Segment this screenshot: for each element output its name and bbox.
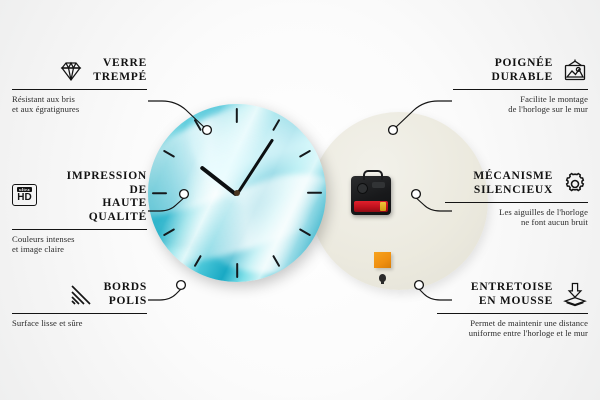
clock-tick <box>152 192 167 194</box>
callout-desc: Couleurs intenses et image claire <box>12 234 147 255</box>
callout-desc-line2: et aux égratignures <box>12 104 147 114</box>
callout-head: POIGNÉE DURABLE <box>453 57 588 84</box>
callout-title-line1: VERRE <box>93 57 147 71</box>
callout-title: IMPRESSION DE HAUTE QUALITÉ <box>47 170 147 224</box>
callout-head: ENTRETOISE EN MOUSSE <box>437 281 588 308</box>
callout-entretoise-en-mousse[interactable]: ENTRETOISE EN MOUSSE Permet de maintenir… <box>437 281 588 338</box>
callout-title-line1: IMPRESSION DE <box>47 170 147 197</box>
callout-title: MÉCANISME SILENCIEUX <box>445 170 553 197</box>
hd-badge-main-label: HD <box>17 193 31 203</box>
callout-title-line2: POLIS <box>104 295 147 309</box>
polished-edge-icon <box>69 282 95 308</box>
callout-desc: Résistant aux bris et aux égratignures <box>12 94 147 115</box>
callout-title: BORDS POLIS <box>104 281 147 308</box>
picture-frame-hanger-icon <box>562 58 588 84</box>
callout-rule <box>445 202 588 203</box>
foam-spacer-pad <box>374 252 391 268</box>
callout-title: ENTRETOISE EN MOUSSE <box>437 281 553 308</box>
callout-desc-line2: uniforme entre l'horloge et le mur <box>437 328 588 338</box>
callout-title: VERRE TREMPÉ <box>93 57 147 84</box>
callout-desc: Facilite le montage de l'horloge sur le … <box>453 94 588 115</box>
callout-rule <box>453 89 588 90</box>
callout-mecanisme-silencieux[interactable]: MÉCANISME SILENCIEUX Les aiguilles de l'… <box>445 170 588 227</box>
callout-title-line2: SILENCIEUX <box>445 184 553 198</box>
callout-verre-trempe[interactable]: VERRE TREMPÉ Résistant aux bris et aux é… <box>12 57 147 114</box>
callout-head: MÉCANISME SILENCIEUX <box>445 170 588 197</box>
callout-rule <box>437 313 588 314</box>
callout-head: VERRE TREMPÉ <box>12 57 147 84</box>
callout-rule <box>12 89 147 90</box>
infographic-stage: VERRE TREMPÉ Résistant aux bris et aux é… <box>0 0 600 400</box>
callout-poignee-durable[interactable]: POIGNÉE DURABLE Facilite le montage de l… <box>453 57 588 114</box>
callout-rule <box>12 313 147 314</box>
foam-spacer-icon <box>562 282 588 308</box>
callout-desc-line2: ne font aucun bruit <box>445 217 588 227</box>
callout-desc-line1: Permet de maintenir une distance <box>437 318 588 328</box>
callout-title-line2: EN MOUSSE <box>437 295 553 309</box>
clock-face <box>148 104 326 282</box>
callout-desc-line1: Résistant aux bris <box>12 94 147 104</box>
callout-head: BORDS POLIS <box>12 281 147 308</box>
callout-title-line2: DURABLE <box>453 71 553 85</box>
callout-impression-haute-qualite[interactable]: ultra HD IMPRESSION DE HAUTE QUALITÉ Cou… <box>12 170 147 254</box>
callout-desc: Permet de maintenir une distance uniform… <box>437 318 588 339</box>
clock-movement-mechanism <box>351 176 391 215</box>
callout-desc-line2: et image claire <box>12 244 147 254</box>
callout-desc-line1: Surface lisse et sûre <box>12 318 147 328</box>
callout-title-line1: ENTRETOISE <box>437 281 553 295</box>
wall-hook <box>379 274 386 282</box>
clock-hand-cap <box>234 190 240 196</box>
callout-head: ultra HD IMPRESSION DE HAUTE QUALITÉ <box>12 170 147 224</box>
callout-title: POIGNÉE DURABLE <box>453 57 553 84</box>
ultra-hd-badge-icon: ultra HD <box>12 184 38 210</box>
battery <box>354 201 388 212</box>
gear-icon <box>562 171 588 197</box>
callout-desc-line2: de l'horloge sur le mur <box>453 104 588 114</box>
callout-title-line2: TREMPÉ <box>93 71 147 85</box>
callout-desc: Surface lisse et sûre <box>12 318 147 328</box>
movement-dial-secondary <box>372 182 385 188</box>
movement-dial <box>357 183 368 194</box>
callout-title-line1: POIGNÉE <box>453 57 553 71</box>
callout-bords-polis[interactable]: BORDS POLIS Surface lisse et sûre <box>12 281 147 328</box>
callout-rule <box>12 229 147 230</box>
callout-desc: Les aiguilles de l'horloge ne font aucun… <box>445 207 588 228</box>
callout-desc-line1: Les aiguilles de l'horloge <box>445 207 588 217</box>
callout-title-line1: MÉCANISME <box>445 170 553 184</box>
callout-desc-line1: Couleurs intenses <box>12 234 147 244</box>
diamond-icon <box>58 58 84 84</box>
callout-title-line1: BORDS <box>104 281 147 295</box>
callout-desc-line1: Facilite le montage <box>453 94 588 104</box>
callout-title-line2: HAUTE QUALITÉ <box>47 197 147 224</box>
clock-tick <box>236 263 238 278</box>
